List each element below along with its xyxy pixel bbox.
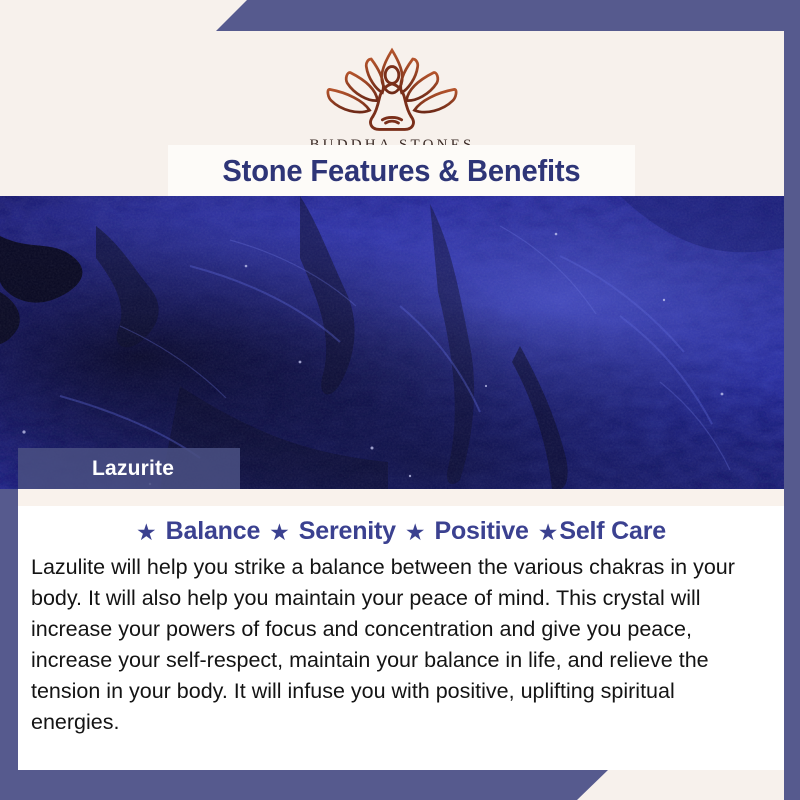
description-panel: ★Balance★Serenity★Positive★Self Care Laz…	[18, 489, 784, 770]
stone-name-band: Lazurite	[18, 448, 240, 489]
stone-photo-texture	[0, 196, 784, 489]
star-icon-2: ★	[269, 519, 290, 545]
bottom-accent-band	[0, 770, 608, 800]
page-title: Stone Features & Benefits	[222, 153, 580, 189]
keyword-balance: Balance	[166, 517, 261, 545]
keyword-list: ★Balance★Serenity★Positive★Self Care	[18, 517, 784, 546]
title-banner: Stone Features & Benefits	[168, 145, 635, 196]
top-accent-band	[216, 0, 800, 31]
right-accent-stripe	[784, 0, 800, 800]
keyword-positive: Positive	[434, 517, 528, 545]
keyword-self-care: Self Care	[559, 517, 666, 545]
stone-name: Lazurite	[92, 457, 174, 481]
description-text: Lazulite will help you strike a balance …	[31, 552, 753, 738]
star-icon-3: ★	[405, 519, 426, 545]
star-icon-4: ★	[538, 519, 559, 545]
keyword-serenity: Serenity	[299, 517, 396, 545]
left-accent-stripe	[0, 489, 18, 800]
star-icon-1: ★	[136, 519, 157, 545]
stone-photo	[0, 196, 784, 489]
lotus-meditation-icon	[312, 43, 472, 135]
brand-logo: BUDDHA STONES	[0, 43, 784, 154]
stone-info-card: BUDDHA STONES	[0, 0, 800, 800]
panel-top-strip	[18, 489, 784, 506]
